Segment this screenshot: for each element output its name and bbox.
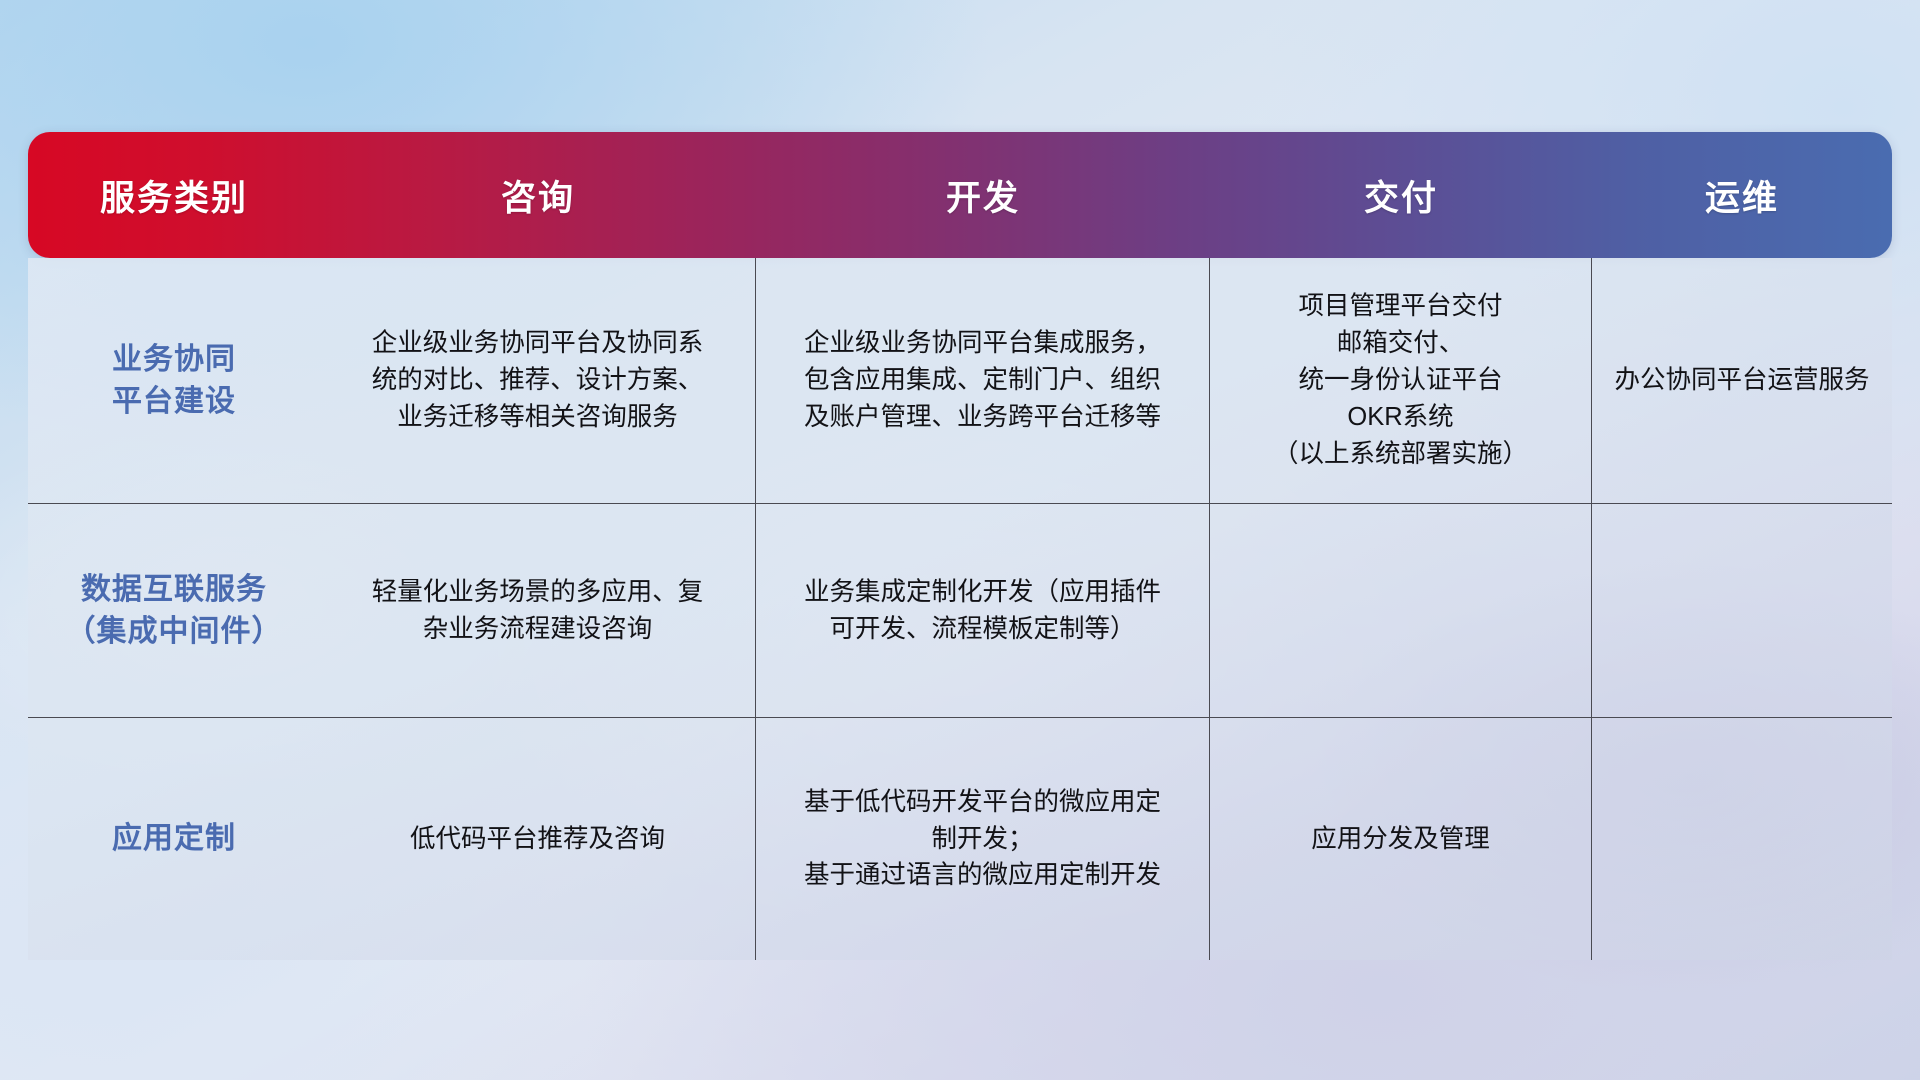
table-row: 应用定制 低代码平台推荐及咨询 基于低代码开发平台的微应用定 制开发； 基于通过… bbox=[28, 718, 1892, 960]
column-header-operations: 运维 bbox=[1592, 170, 1892, 221]
column-header-delivery: 交付 bbox=[1210, 170, 1592, 221]
column-header-consulting: 咨询 bbox=[320, 170, 756, 221]
row-category-label: 业务协同 平台建设 bbox=[28, 258, 320, 503]
cell-operations: 办公协同平台运营服务 bbox=[1592, 258, 1892, 503]
table-row: 数据互联服务 （集成中间件） 轻量化业务场景的多应用、复 杂业务流程建设咨询 业… bbox=[28, 504, 1892, 718]
cell-operations bbox=[1592, 504, 1892, 717]
cell-development: 企业级业务协同平台集成服务， 包含应用集成、定制门户、组织 及账户管理、业务跨平… bbox=[756, 258, 1210, 503]
service-matrix-table: 服务类别 咨询 开发 交付 运维 业务协同 平台建设 企业级业务协同平台及协同系… bbox=[28, 132, 1892, 960]
cell-development: 业务集成定制化开发（应用插件 可开发、流程模板定制等） bbox=[756, 504, 1210, 717]
cell-consulting: 企业级业务协同平台及协同系 统的对比、推荐、设计方案、 业务迁移等相关咨询服务 bbox=[320, 258, 756, 503]
column-header-development: 开发 bbox=[756, 170, 1210, 221]
row-category-label: 应用定制 bbox=[28, 718, 320, 960]
cell-operations bbox=[1592, 718, 1892, 960]
cell-consulting: 轻量化业务场景的多应用、复 杂业务流程建设咨询 bbox=[320, 504, 756, 717]
row-category-label: 数据互联服务 （集成中间件） bbox=[28, 504, 320, 717]
column-header-category: 服务类别 bbox=[28, 170, 320, 221]
cell-consulting: 低代码平台推荐及咨询 bbox=[320, 718, 756, 960]
table-header-row: 服务类别 咨询 开发 交付 运维 bbox=[28, 132, 1892, 258]
cell-development: 基于低代码开发平台的微应用定 制开发； 基于通过语言的微应用定制开发 bbox=[756, 718, 1210, 960]
table-row: 业务协同 平台建设 企业级业务协同平台及协同系 统的对比、推荐、设计方案、 业务… bbox=[28, 258, 1892, 504]
cell-delivery: 应用分发及管理 bbox=[1210, 718, 1592, 960]
cell-delivery bbox=[1210, 504, 1592, 717]
table-body: 业务协同 平台建设 企业级业务协同平台及协同系 统的对比、推荐、设计方案、 业务… bbox=[28, 258, 1892, 960]
cell-delivery: 项目管理平台交付 邮箱交付、 统一身份认证平台 OKR系统 （以上系统部署实施） bbox=[1210, 258, 1592, 503]
